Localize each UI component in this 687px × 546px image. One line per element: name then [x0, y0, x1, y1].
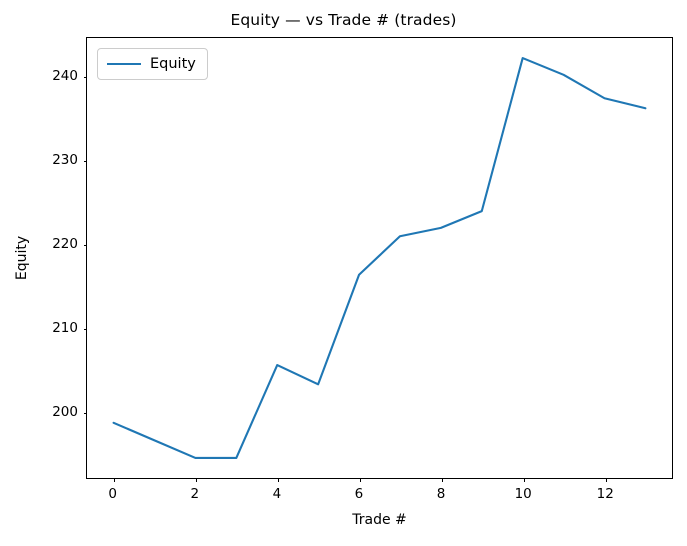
x-tick-label-4: 4	[273, 486, 282, 502]
y-tick-label-220: 220	[52, 236, 78, 252]
chart-figure: Equity — vs Trade # (trades) Equity 2002…	[0, 0, 687, 546]
x-tick-mark-6	[360, 478, 361, 482]
x-tick-mark-2	[196, 478, 197, 482]
x-tick-label-2: 2	[190, 486, 199, 502]
x-tick-label-6: 6	[355, 486, 364, 502]
y-tick-mark-240	[84, 77, 88, 78]
plot-axes: Equity	[86, 37, 673, 479]
chart-title: Equity — vs Trade # (trades)	[0, 11, 687, 29]
y-tick-label-240: 240	[52, 68, 78, 84]
y-tick-mark-230	[84, 161, 88, 162]
legend-label-equity: Equity	[150, 56, 196, 72]
chart-legend: Equity	[97, 48, 208, 80]
x-tick-mark-10	[524, 478, 525, 482]
x-tick-label-10: 10	[515, 486, 532, 502]
y-tick-mark-210	[84, 329, 88, 330]
y-tick-mark-220	[84, 245, 88, 246]
y-tick-label-200: 200	[52, 404, 78, 420]
y-axis-label: Equity	[14, 37, 32, 479]
x-tick-label-12: 12	[597, 486, 614, 502]
y-tick-label-230: 230	[52, 152, 78, 168]
x-tick-label-8: 8	[437, 486, 446, 502]
y-axis-tick-labels: 200210220230240	[40, 37, 78, 479]
x-tick-label-0: 0	[108, 486, 117, 502]
x-tick-mark-0	[114, 478, 115, 482]
x-tick-mark-4	[278, 478, 279, 482]
legend-line-swatch	[107, 63, 141, 65]
equity-line-series	[114, 58, 646, 458]
x-axis-label: Trade #	[86, 512, 673, 528]
x-tick-mark-8	[442, 478, 443, 482]
x-tick-mark-12	[606, 478, 607, 482]
y-tick-mark-200	[84, 413, 88, 414]
plot-canvas	[87, 38, 672, 478]
y-tick-label-210: 210	[52, 320, 78, 336]
x-axis-tick-labels: 024681012	[86, 486, 673, 506]
